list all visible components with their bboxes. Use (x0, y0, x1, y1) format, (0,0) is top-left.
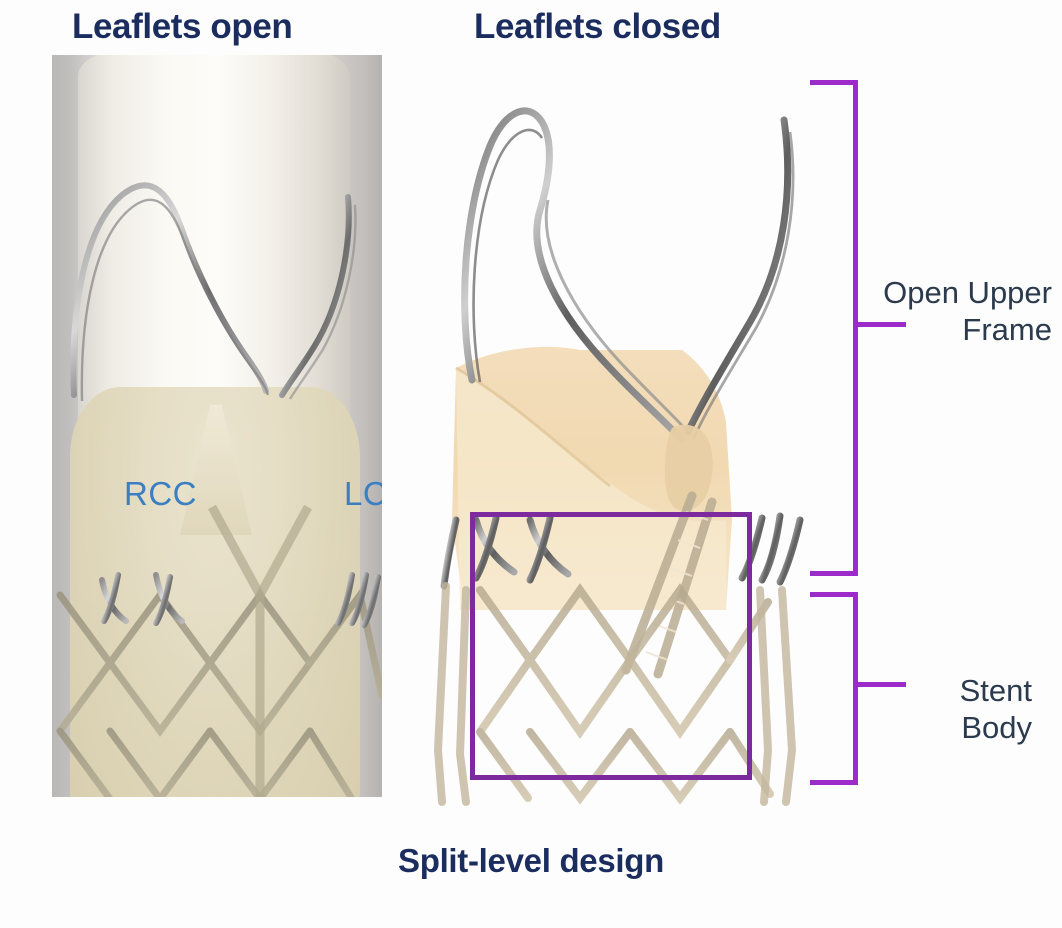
annotation-label-open-upper-frame: Open Upper Frame (802, 275, 1052, 348)
figure-caption: Split-level design (0, 842, 1062, 880)
bracket-stent-body-bottom-tick (810, 780, 858, 785)
panel-title-leaflets-open: Leaflets open (72, 7, 292, 47)
valve-frame-open-svg (52, 55, 382, 797)
panel-title-leaflets-closed: Leaflets closed (474, 7, 721, 47)
bracket-stent-body-top-tick (810, 592, 858, 597)
bracket-open-upper-frame-top-tick (810, 80, 858, 85)
annotation-label-stent-body: Stent Body (802, 673, 1032, 746)
cusp-label-lcc: LCC (344, 475, 382, 513)
bracket-open-upper-frame-bottom-tick (810, 571, 858, 576)
photo-leaflets-open: RCC LCC (52, 55, 382, 797)
figure-root: Leaflets open Leaflets closed (0, 0, 1062, 928)
stent-body-highlight-rectangle (470, 512, 752, 780)
cusp-label-rcc: RCC (124, 475, 197, 513)
